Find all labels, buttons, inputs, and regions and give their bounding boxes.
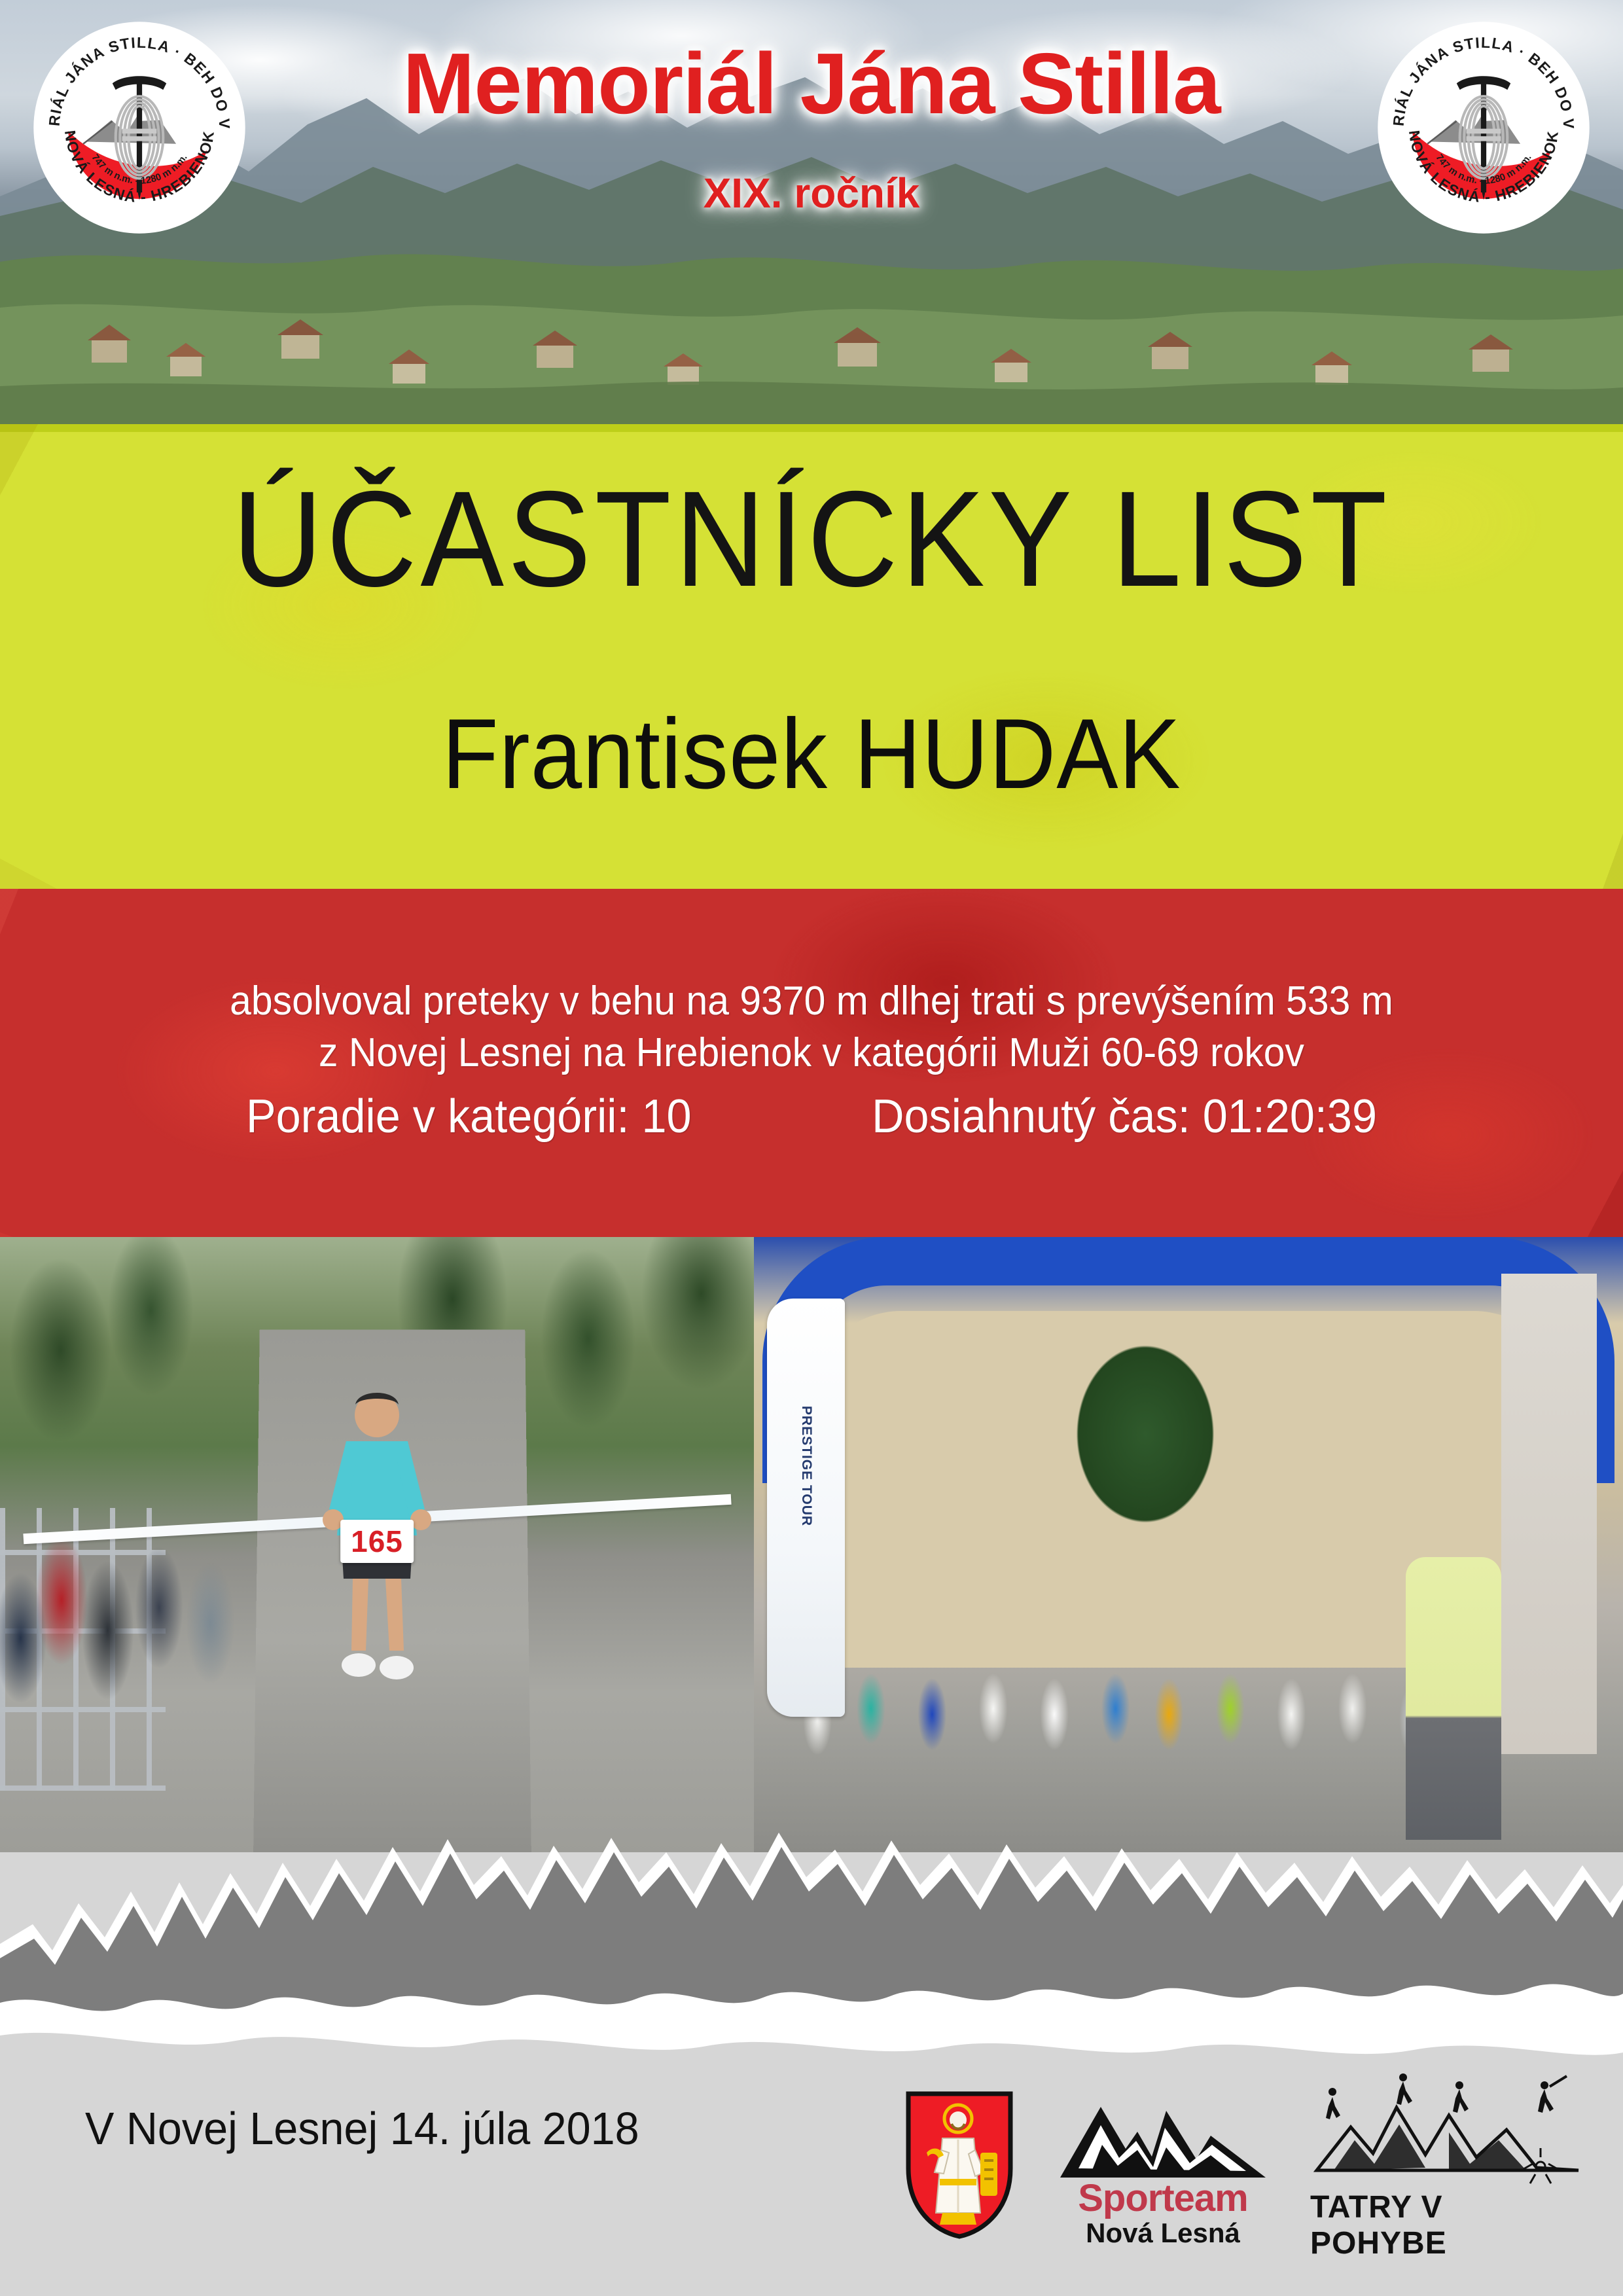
sporteam-label-sub: Nová Lesná: [1086, 2217, 1240, 2249]
event-emblem-left: MEMORIÁL JÁNA STILLA · BEH DO VRCHU NOVÁ…: [31, 20, 247, 236]
certificate-page: Memoriál Jána Stilla XIX. ročník: [0, 0, 1623, 2296]
issue-place-date: V Novej Lesnej 14. júla 2018: [85, 2102, 639, 2155]
event-emblem-right: MEMORIÁL JÁNA STILLA · BEH DO VRCHU NOVÁ…: [1376, 20, 1592, 236]
sporteam-logo: Sporteam Nová Lesná: [1055, 2085, 1271, 2249]
sporteam-mountain-icon: [1055, 2085, 1271, 2183]
page-title: ÚČASTNÍCKY LIST: [65, 461, 1558, 618]
finish-time: Dosiahnutý čas: 01:20:39: [872, 1090, 1377, 1143]
tatry-label: TATRY V POHYBE: [1310, 2189, 1585, 2261]
result-row: Poradie v kategórii: 10 Dosiahnutý čas: …: [41, 1090, 1582, 1143]
tatry-mountains-runners-icon: [1310, 2072, 1585, 2190]
race-detail-line-2: z Novej Lesnej na Hrebienok v kategórii …: [41, 1030, 1582, 1076]
sporteam-label-main: Sporteam: [1078, 2176, 1248, 2220]
category-rank: Poradie v kategórii: 10: [246, 1090, 692, 1143]
coat-of-arms-nova-lesna: [903, 2090, 1016, 2244]
prestige-tour-banner: PRESTIGE TOUR: [767, 1299, 846, 1717]
conifer-bush: [1050, 1311, 1241, 1557]
tatry-v-pohybe-logo: TATRY V POHYBE: [1310, 2072, 1585, 2261]
participant-name: Frantisek HUDAK: [57, 697, 1566, 812]
bib-number: 165: [340, 1520, 414, 1563]
race-detail-line-1: absolvoval preteky v behu na 9370 m dlhe…: [41, 978, 1582, 1024]
banner-label: PRESTIGE TOUR: [798, 1406, 814, 1526]
tatra-silhouette-graphic: [0, 1728, 1623, 2094]
sponsor-logos: Sporteam Nová Lesná: [903, 2068, 1571, 2265]
